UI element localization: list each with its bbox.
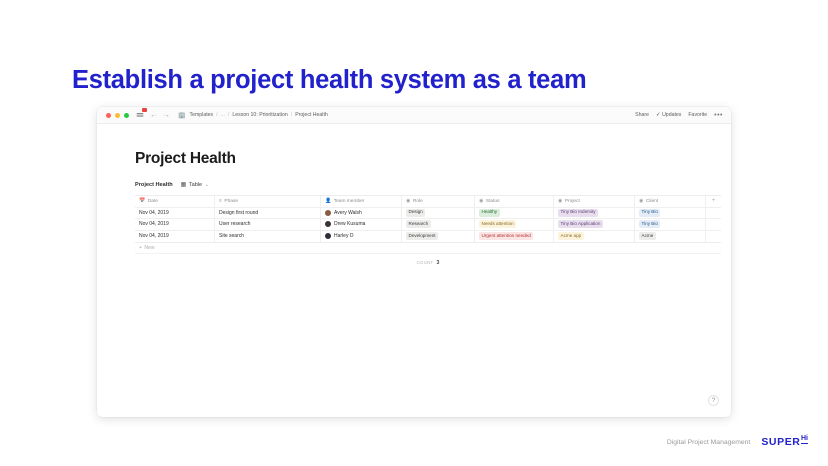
data-table: 📅 Date ≡ Phase 👤 Team member ◉ Role	[135, 195, 721, 243]
column-header-team-member[interactable]: 👤 Team member	[321, 196, 402, 207]
breadcrumb-item-current[interactable]: Project Health	[295, 112, 328, 118]
breadcrumb-item-lesson[interactable]: Lesson 10: Prioritization	[232, 112, 287, 118]
cell-role[interactable]: Design	[402, 208, 475, 219]
tabs-icon[interactable]	[136, 111, 144, 119]
avatar	[325, 210, 331, 216]
plus-icon: +	[139, 245, 142, 251]
count-value: 3	[436, 260, 439, 266]
text-icon: ≡	[219, 198, 222, 204]
breadcrumb-separator: /	[291, 112, 292, 118]
browser-window: ← → 🏢 Templates / ... / Lesson 10: Prior…	[97, 107, 731, 417]
cell-client[interactable]: Tiny Bio	[635, 208, 706, 219]
person-icon: 👤	[325, 198, 331, 204]
role-badge: Design	[406, 209, 425, 217]
relation-icon: ◉	[558, 198, 562, 204]
favorite-button[interactable]: Favorite	[688, 112, 707, 118]
client-badge: Tiny Bio	[639, 209, 660, 217]
cell-status[interactable]: Needs attention	[475, 219, 554, 230]
table-row[interactable]: Nov 04, 2019 User research Drew Kusuma R…	[135, 219, 721, 231]
course-name: Digital Project Management	[667, 439, 751, 446]
project-badge: Tiny Bio Indemity	[558, 209, 598, 217]
table-header-row: 📅 Date ≡ Phase 👤 Team member ◉ Role	[135, 196, 721, 208]
cell-project[interactable]: Acme app	[554, 231, 635, 243]
breadcrumb-item-ellipsis[interactable]: ...	[221, 112, 225, 118]
updates-button[interactable]: ✓Updates	[656, 112, 681, 118]
select-icon: ◉	[406, 198, 410, 204]
superhi-logo: SUPERHi	[761, 436, 808, 448]
column-header-project[interactable]: ◉ Project	[554, 196, 635, 207]
table-row[interactable]: Nov 04, 2019 Design first round Avery Wa…	[135, 208, 721, 220]
column-header-status[interactable]: ◉ Status	[475, 196, 554, 207]
cell-phase[interactable]: Design first round	[215, 208, 321, 219]
building-icon: 🏢	[178, 112, 185, 119]
status-badge: Urgent attention needed	[479, 232, 533, 240]
notion-page: Project Health Project Health ▦ Table ⌄ …	[97, 124, 731, 416]
column-label: Status	[486, 199, 500, 204]
select-icon: ◉	[479, 198, 483, 204]
breadcrumb-item-templates[interactable]: Templates	[189, 112, 213, 118]
help-button[interactable]: ?	[708, 395, 719, 406]
calendar-icon: 📅	[139, 198, 145, 204]
cell-team-member[interactable]: Drew Kusuma	[321, 219, 402, 230]
table-icon: ▦	[181, 181, 187, 188]
cell-date[interactable]: Nov 04, 2019	[135, 208, 215, 219]
breadcrumb-separator: /	[228, 112, 229, 118]
view-bar: Project Health ▦ Table ⌄	[135, 181, 717, 188]
row-spacer	[706, 219, 721, 230]
cell-team-member[interactable]: Harley D	[321, 231, 402, 243]
updates-label: Updates	[662, 112, 681, 118]
client-badge: Acme	[639, 232, 656, 240]
view-selector[interactable]: ▦ Table ⌄	[181, 181, 209, 188]
add-column-button[interactable]: +	[706, 196, 721, 207]
column-label: Team member	[334, 199, 365, 204]
minimize-icon[interactable]	[115, 113, 120, 118]
column-header-role[interactable]: ◉ Role	[402, 196, 475, 207]
column-label: Phase	[224, 199, 238, 204]
notification-badge	[142, 108, 147, 112]
avatar	[325, 221, 331, 227]
cell-status[interactable]: Healthy	[475, 208, 554, 219]
client-badge: Tiny Bio	[639, 220, 660, 228]
role-badge: Research	[406, 220, 431, 228]
relation-icon: ◉	[639, 198, 643, 204]
table-row[interactable]: Nov 04, 2019 Site search Harley D Develo…	[135, 231, 721, 243]
column-label: Project	[565, 199, 580, 204]
column-header-date[interactable]: 📅 Date	[135, 196, 215, 207]
cell-project[interactable]: Tiny Bio Application	[554, 219, 635, 230]
status-badge: Healthy	[479, 209, 500, 217]
cell-date[interactable]: Nov 04, 2019	[135, 231, 215, 243]
column-label: Client	[646, 199, 658, 204]
column-header-client[interactable]: ◉ Client	[635, 196, 706, 207]
project-badge: Tiny Bio Application	[558, 220, 603, 228]
view-name: Table	[189, 182, 202, 188]
member-name: Avery Walsh	[334, 210, 362, 216]
close-icon[interactable]	[106, 113, 111, 118]
window-controls[interactable]	[106, 113, 129, 118]
back-arrow-icon[interactable]: ←	[150, 111, 158, 119]
database-name: Project Health	[135, 182, 173, 188]
cell-phase[interactable]: User research	[215, 219, 321, 230]
breadcrumb: 🏢 Templates / ... / Lesson 10: Prioritiz…	[178, 112, 328, 119]
browser-toolbar: ← → 🏢 Templates / ... / Lesson 10: Prior…	[97, 107, 731, 124]
cell-role[interactable]: Development	[402, 231, 475, 243]
cell-team-member[interactable]: Avery Walsh	[321, 208, 402, 219]
cell-phase[interactable]: Site search	[215, 231, 321, 243]
cell-client[interactable]: Tiny Bio	[635, 219, 706, 230]
document-title[interactable]: Project Health	[135, 150, 717, 168]
role-badge: Development	[406, 232, 438, 240]
cell-project[interactable]: Tiny Bio Indemity	[554, 208, 635, 219]
row-spacer	[706, 208, 721, 219]
column-label: Date	[148, 199, 158, 204]
chevron-down-icon: ⌄	[205, 182, 209, 188]
member-name: Harley D	[334, 233, 353, 239]
avatar	[325, 233, 331, 239]
cell-status[interactable]: Urgent attention needed	[475, 231, 554, 243]
slide-root: Establish a project health system as a t…	[0, 0, 828, 466]
row-spacer	[706, 231, 721, 243]
page-title: Establish a project health system as a t…	[72, 66, 586, 95]
maximize-icon[interactable]	[124, 113, 129, 118]
breadcrumb-separator: /	[216, 112, 217, 118]
logo-accent: Hi	[801, 435, 808, 444]
cell-client[interactable]: Acme	[635, 231, 706, 243]
toolbar-actions: Share ✓Updates Favorite •••	[635, 107, 723, 123]
status-badge: Needs attention	[479, 220, 516, 228]
column-label: Role	[413, 199, 423, 204]
share-button[interactable]: Share	[635, 112, 649, 118]
check-icon: ✓	[656, 112, 661, 118]
cell-role[interactable]: Research	[402, 219, 475, 230]
project-badge: Acme app	[558, 232, 584, 240]
member-name: Drew Kusuma	[334, 221, 365, 227]
logo-main: SUPER	[761, 436, 800, 448]
new-row-label: New	[144, 245, 154, 251]
forward-arrow-icon[interactable]: →	[163, 111, 171, 119]
slide-footer: Digital Project Management SUPERHi	[667, 436, 808, 448]
more-options-icon[interactable]: •••	[714, 112, 723, 119]
column-header-phase[interactable]: ≡ Phase	[215, 196, 321, 207]
count-label: Count	[417, 260, 434, 265]
row-count[interactable]: Count 3	[135, 260, 721, 266]
plus-icon: +	[712, 198, 716, 204]
new-row-button[interactable]: + New	[135, 243, 721, 254]
cell-date[interactable]: Nov 04, 2019	[135, 219, 215, 230]
